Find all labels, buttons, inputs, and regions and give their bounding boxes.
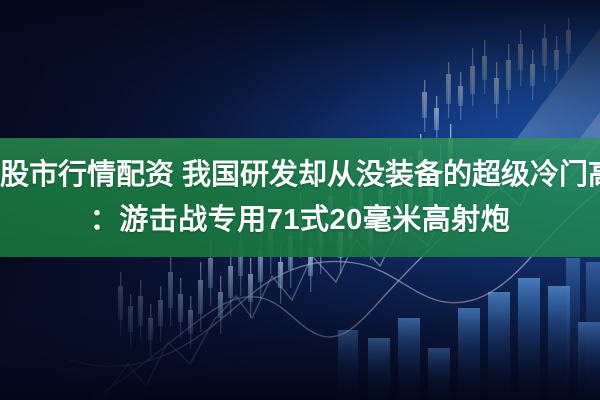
headline-line-2: ：游击战专用71式20毫米高射炮 bbox=[0, 198, 600, 243]
headline-band: 股市行情配资 我国研发却从没装备的超级冷门高炮 ：游击战专用71式20毫米高射炮 bbox=[0, 138, 600, 257]
headline-line-1: 股市行情配资 我国研发却从没装备的超级冷门高炮 bbox=[0, 153, 600, 198]
banner-image: 股市行情配资 我国研发却从没装备的超级冷门高炮 ：游击战专用71式20毫米高射炮 bbox=[0, 0, 600, 400]
